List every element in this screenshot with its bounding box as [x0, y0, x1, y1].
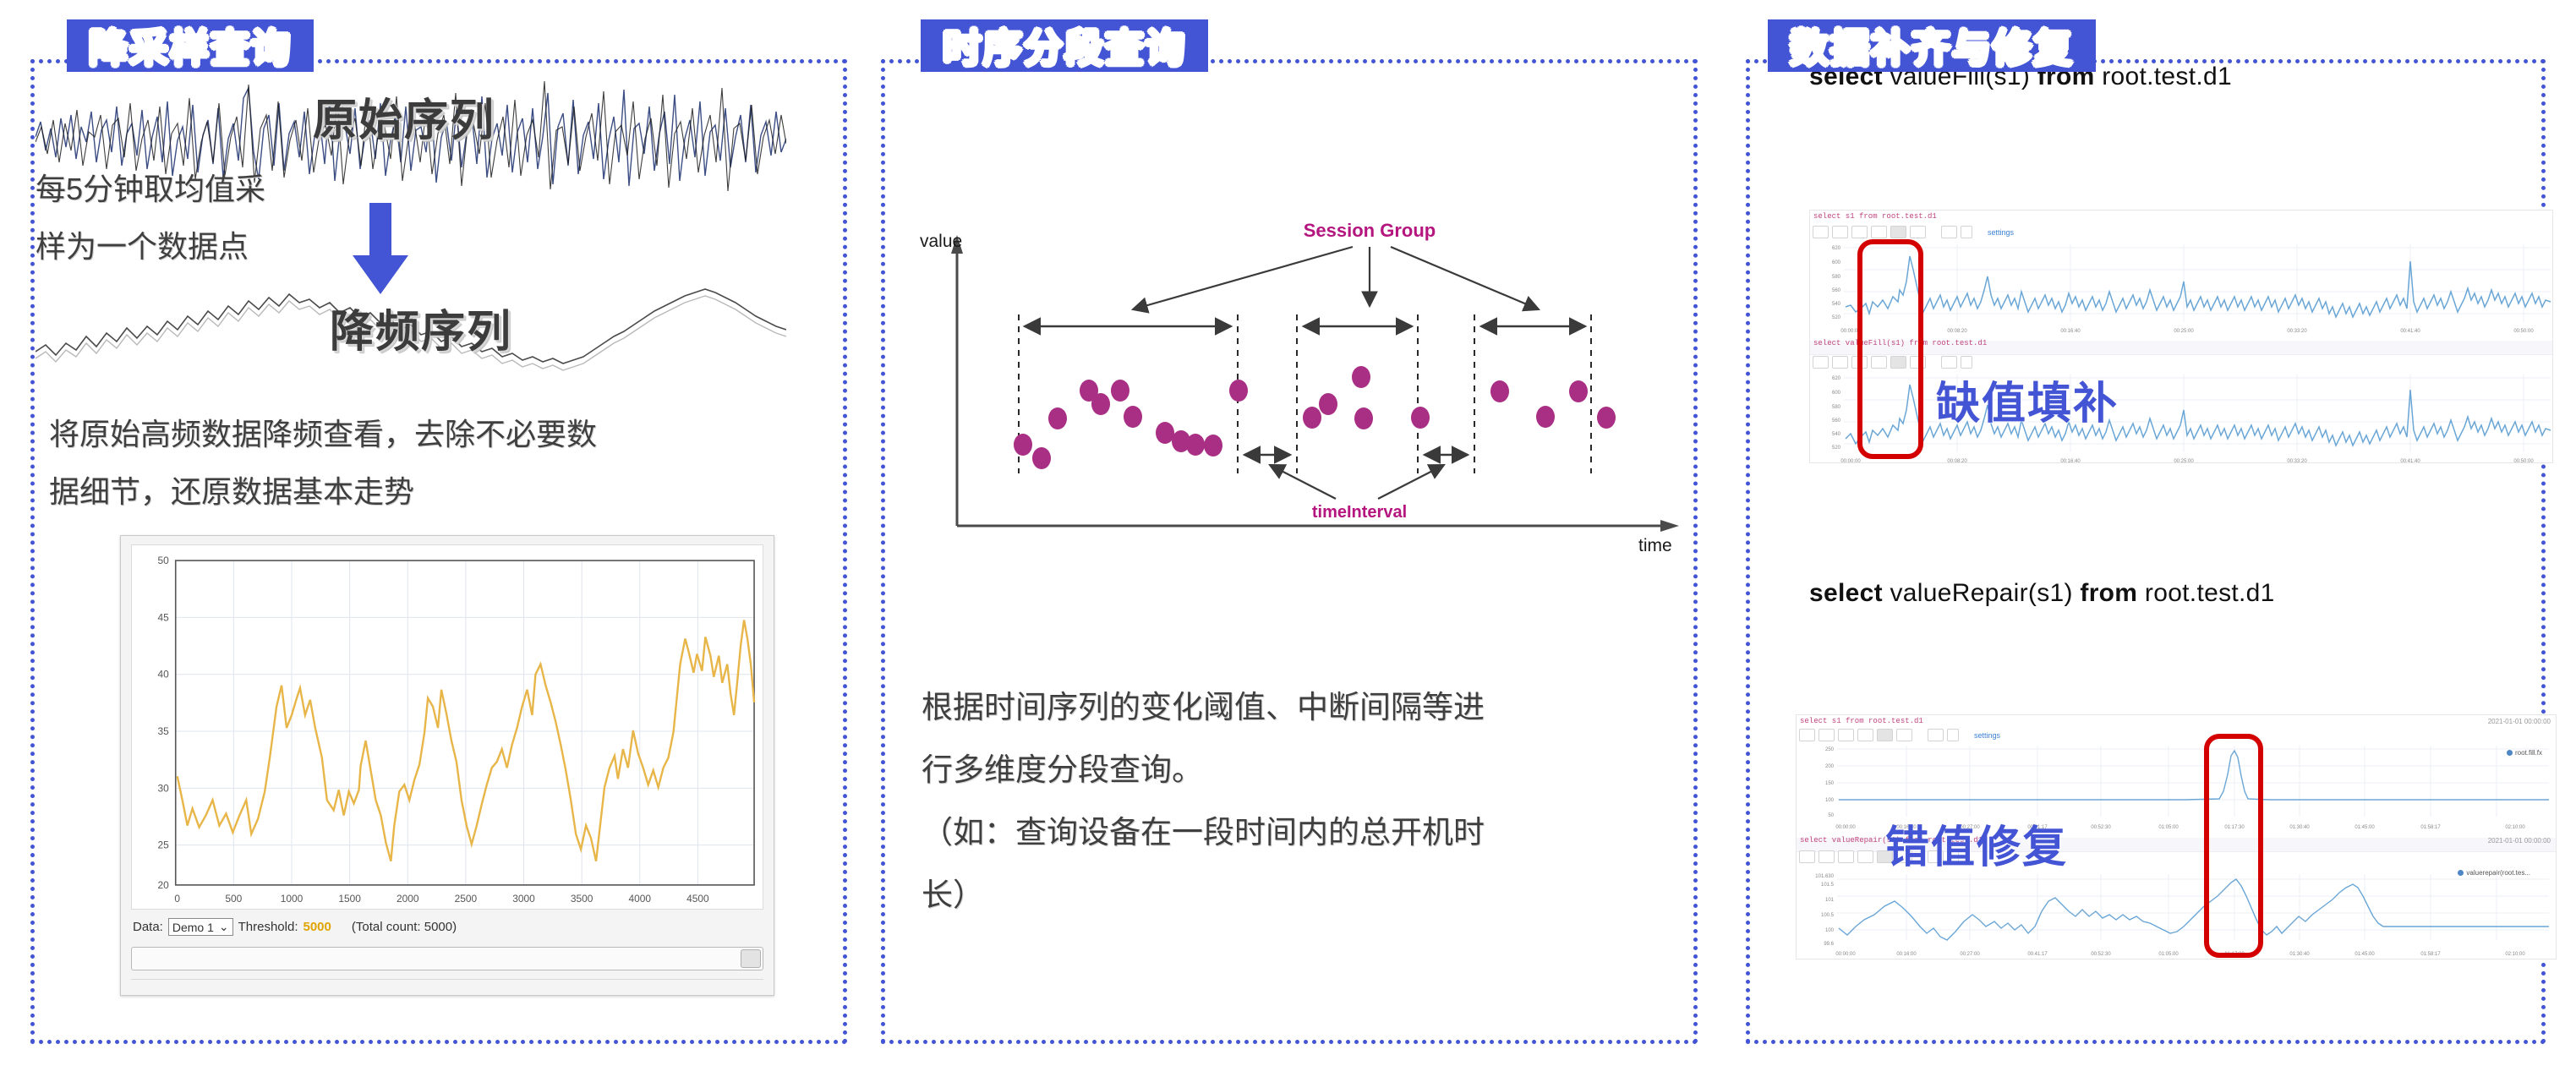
svg-text:100.5: 100.5	[1821, 913, 1835, 918]
panel-title-segment: 时序分段查询	[921, 19, 1208, 72]
svg-text:00:08:20: 00:08:20	[1947, 329, 1967, 334]
svg-text:560: 560	[1832, 288, 1841, 293]
label-original-series: 原始序列	[313, 85, 495, 148]
downsample-demo-chart: 50 45 40 35 30 25 20 0 500 1000 1500 200…	[131, 544, 763, 910]
threshold-value[interactable]: 5000	[304, 920, 331, 934]
svg-text:25: 25	[157, 839, 169, 851]
segment-desc-line1: 根据时间序列的变化阈值、中断间隔等进	[922, 676, 1682, 739]
data-select[interactable]: Demo 1 ⌄	[168, 918, 233, 936]
svg-text:01:45:00: 01:45:00	[2354, 952, 2375, 957]
svg-text:600: 600	[1832, 391, 1841, 396]
data-select-value: Demo 1	[172, 921, 214, 934]
svg-text:2500: 2500	[455, 893, 478, 905]
svg-text:00:41:40: 00:41:40	[2400, 459, 2420, 463]
line-chart-icon[interactable]	[1890, 356, 1906, 369]
svg-text:2000: 2000	[397, 893, 419, 905]
svg-text:01:58:17: 01:58:17	[2420, 825, 2441, 830]
total-count-label: (Total count: 5000)	[352, 920, 457, 934]
svg-text:00:41:17: 00:41:17	[2027, 952, 2048, 957]
area-chart-icon[interactable]	[1871, 356, 1887, 369]
chevron-down-icon[interactable]	[1961, 356, 1972, 369]
shot-toolbar-top-repair[interactable]: settings	[1799, 729, 2000, 741]
table-view-icon[interactable]	[1799, 850, 1815, 863]
threshold-label: Threshold:	[238, 920, 298, 934]
svg-text:200: 200	[1825, 764, 1835, 769]
shot-toolbar-bottom-fill[interactable]	[1813, 356, 1972, 369]
svg-text:20: 20	[157, 879, 169, 891]
svg-text:500: 500	[225, 893, 242, 905]
svg-text:01:17:30: 01:17:30	[2224, 952, 2245, 957]
bar-chart-icon[interactable]	[1819, 729, 1835, 741]
svg-text:01:45:00: 01:45:00	[2354, 825, 2375, 830]
svg-text:101: 101	[1825, 898, 1835, 903]
svg-text:50: 50	[1828, 813, 1834, 818]
downsample-demo-controls[interactable]: Data: Demo 1 ⌄ Threshold: 5000 (Total co…	[133, 918, 457, 936]
chart-valuerepair-after: 101.630 101.5 101 100.5 100 99.6 00:00:0…	[1797, 867, 2557, 959]
svg-text:00:00:00: 00:00:00	[1840, 459, 1861, 463]
shot-toolbar-top-fill[interactable]: settings	[1813, 226, 2014, 238]
downsample-description-text: 将原始高频数据降频查看，去除不必要数 据细节，还原数据基本走势	[49, 406, 793, 521]
area-chart-icon[interactable]	[1857, 729, 1873, 741]
panel-title-repair: 数据补齐与修复	[1768, 19, 2096, 72]
svg-text:00:33:20: 00:33:20	[2287, 459, 2307, 463]
slide-root: 降采样查询 原始序列 每5分钟取均值采 样为一个数据点 降频序列 将原始高频数据…	[0, 0, 2576, 1077]
svg-text:540: 540	[1832, 302, 1841, 307]
svg-text:250: 250	[1825, 747, 1835, 752]
axis-label-time: time	[1638, 536, 1672, 555]
shot-sql-top-repair: select s1 from root.test.d1	[1800, 717, 1923, 725]
sql-target-path-fill: root.test.d1	[2095, 63, 2232, 90]
list-view-icon[interactable]	[1910, 356, 1926, 369]
svg-text:101.5: 101.5	[1821, 883, 1835, 888]
overlay-label-valuerepair: 错值修复	[1885, 812, 2068, 875]
sql-statement-valuerepair: select valueRepair(s1) from root.test.d1	[1809, 579, 2275, 608]
pie-chart-icon[interactable]	[1838, 850, 1854, 863]
chart-valuefill-before: 620 600 580 560 540 520 00:00:0000:08:20…	[1810, 241, 2553, 336]
download-icon[interactable]	[1941, 226, 1957, 238]
svg-text:620: 620	[1832, 246, 1841, 251]
label-downsampled-series: 降频序列	[330, 296, 512, 359]
chevron-down-icon: ⌄	[219, 920, 229, 934]
svg-text:50: 50	[157, 555, 169, 566]
svg-text:02:10:00: 02:10:00	[2505, 952, 2525, 957]
line-chart-icon[interactable]	[1890, 226, 1906, 238]
shot-sql-top-fill: select s1 from root.test.d1	[1813, 212, 1937, 221]
svg-text:0: 0	[174, 893, 180, 905]
svg-text:00:27:00: 00:27:00	[1960, 952, 1980, 957]
svg-text:00:25:00: 00:25:00	[2174, 459, 2194, 463]
svg-text:620: 620	[1832, 376, 1841, 381]
svg-text:35: 35	[157, 725, 169, 737]
svg-text:01:05:00: 01:05:00	[2158, 952, 2179, 957]
table-view-icon[interactable]	[1813, 226, 1829, 238]
list-view-icon[interactable]	[1896, 729, 1912, 741]
svg-text:100: 100	[1825, 798, 1835, 803]
svg-text:600: 600	[1832, 260, 1841, 265]
svg-text:99.6: 99.6	[1824, 942, 1834, 947]
data-point-group	[1014, 366, 1616, 469]
svg-text:40: 40	[157, 669, 169, 681]
panel-title-downsample: 降采样查询	[67, 19, 314, 72]
download-icon[interactable]	[1941, 356, 1957, 369]
pie-chart-icon[interactable]	[1851, 226, 1868, 238]
segment-desc-line2: 行多维度分段查询。	[922, 739, 1682, 801]
svg-text:520: 520	[1832, 446, 1841, 451]
downsample-note-line1: 每5分钟取均值采	[36, 161, 509, 218]
sql-keyword-select-2: select	[1809, 579, 1883, 607]
svg-text:01:58:17: 01:58:17	[2420, 952, 2441, 957]
time-interval-label: timeInterval	[1312, 503, 1407, 522]
session-group-diagram: value time Session Gr	[896, 211, 1708, 558]
bar-chart-icon[interactable]	[1832, 356, 1848, 369]
svg-text:520: 520	[1832, 315, 1841, 320]
svg-text:00:52:30: 00:52:30	[2091, 825, 2111, 830]
downsample-note-text: 每5分钟取均值采 样为一个数据点	[36, 161, 509, 276]
downsample-desc-line2: 据细节，还原数据基本走势	[49, 463, 793, 521]
svg-text:580: 580	[1832, 275, 1841, 280]
svg-text:00:16:00: 00:16:00	[1896, 952, 1917, 957]
segment-description-text: 根据时间序列的变化阈值、中断间隔等进 行多维度分段查询。 （如：查询设备在一段时…	[922, 676, 1682, 927]
svg-text:00:16:40: 00:16:40	[2060, 329, 2081, 334]
screenshot-valuefill[interactable]: select s1 from root.test.d1 settings	[1809, 210, 2553, 463]
svg-text:4500: 4500	[686, 893, 709, 905]
downsample-demo-app-window[interactable]: 50 45 40 35 30 25 20 0 500 1000 1500 200…	[120, 535, 774, 996]
svg-text:02:10:00: 02:10:00	[2505, 825, 2525, 830]
svg-text:01:17:30: 01:17:30	[2224, 825, 2245, 830]
svg-text:4000: 4000	[629, 893, 652, 905]
svg-text:3500: 3500	[571, 893, 593, 905]
session-group-label: Session Group	[1304, 220, 1436, 241]
downsample-note-line2: 样为一个数据点	[36, 218, 509, 276]
sql-expression-repair: valueRepair(s1)	[1883, 579, 2081, 607]
downsample-desc-line1: 将原始高频数据降频查看，去除不必要数	[49, 406, 793, 463]
axis-label-value: value	[920, 232, 962, 251]
window-footer-divider	[131, 979, 763, 980]
svg-text:00:52:30: 00:52:30	[2091, 952, 2111, 957]
svg-text:00:33:20: 00:33:20	[2287, 329, 2307, 334]
svg-text:540: 540	[1832, 432, 1841, 437]
svg-text:00:00:00: 00:00:00	[1835, 952, 1856, 957]
svg-text:00:41:40: 00:41:40	[2400, 329, 2420, 334]
shot-date-top: 2021-01-01 00:00:00	[2488, 718, 2551, 725]
segment-desc-line3: （如：查询设备在一段时间内的总开机时	[922, 801, 1682, 864]
table-view-icon[interactable]	[1799, 729, 1815, 741]
shot-sql-bottom-fill: select valueFill(s1) from root.test.d1	[1813, 339, 1987, 347]
svg-text:01:30:40: 01:30:40	[2289, 952, 2310, 957]
settings-link[interactable]: settings	[1988, 228, 2014, 237]
bar-chart-icon[interactable]	[1819, 850, 1835, 863]
svg-text:45: 45	[157, 611, 169, 623]
line-chart-icon[interactable]	[1877, 729, 1893, 741]
list-view-icon[interactable]	[1910, 226, 1926, 238]
svg-text:00:00:00: 00:00:00	[1835, 825, 1856, 830]
shot-date-bottom: 2021-01-01 00:00:00	[2488, 837, 2551, 845]
svg-text:30: 30	[157, 782, 169, 794]
table-view-icon[interactable]	[1813, 356, 1829, 369]
sql-keyword-from-2: from	[2080, 579, 2137, 607]
overlay-label-valuefill: 缺值填补	[1936, 368, 2119, 431]
svg-text:00:08:20: 00:08:20	[1947, 459, 1967, 463]
svg-text:00:50:00: 00:50:00	[2513, 459, 2534, 463]
bar-chart-icon[interactable]	[1832, 226, 1848, 238]
area-chart-icon[interactable]	[1871, 226, 1887, 238]
segment-desc-line4: 长）	[922, 864, 1682, 927]
svg-text:00:50:00: 00:50:00	[2513, 329, 2534, 334]
svg-text:3000: 3000	[512, 893, 535, 905]
area-chart-icon[interactable]	[1857, 850, 1873, 863]
chart-valuefill-after: 620 600 580 560 540 520 00:00:0000:08:20…	[1810, 371, 2553, 463]
svg-text:00:00:00: 00:00:00	[1840, 329, 1861, 334]
svg-text:00:16:40: 00:16:40	[2060, 459, 2081, 463]
svg-text:01:30:40: 01:30:40	[2289, 825, 2310, 830]
svg-text:1500: 1500	[338, 893, 361, 905]
svg-text:560: 560	[1832, 418, 1841, 424]
chevron-down-icon[interactable]	[1961, 226, 1972, 238]
chevron-down-icon[interactable]	[1947, 729, 1959, 741]
svg-text:01:05:00: 01:05:00	[2158, 825, 2179, 830]
svg-text:00:25:00: 00:25:00	[2174, 329, 2194, 334]
svg-text:1000: 1000	[281, 893, 304, 905]
svg-text:101.630: 101.630	[1815, 874, 1834, 879]
download-icon[interactable]	[1928, 729, 1944, 741]
data-label: Data:	[133, 920, 163, 934]
svg-text:150: 150	[1825, 781, 1835, 786]
horizontal-scrollbar[interactable]	[131, 947, 763, 970]
settings-link[interactable]: settings	[1974, 731, 2000, 740]
pie-chart-icon[interactable]	[1851, 356, 1868, 369]
svg-text:580: 580	[1832, 405, 1841, 410]
pie-chart-icon[interactable]	[1838, 729, 1854, 741]
sql-target-path-repair: root.test.d1	[2137, 579, 2274, 607]
scrollbar-thumb[interactable]	[741, 949, 761, 968]
svg-text:100: 100	[1825, 928, 1835, 933]
